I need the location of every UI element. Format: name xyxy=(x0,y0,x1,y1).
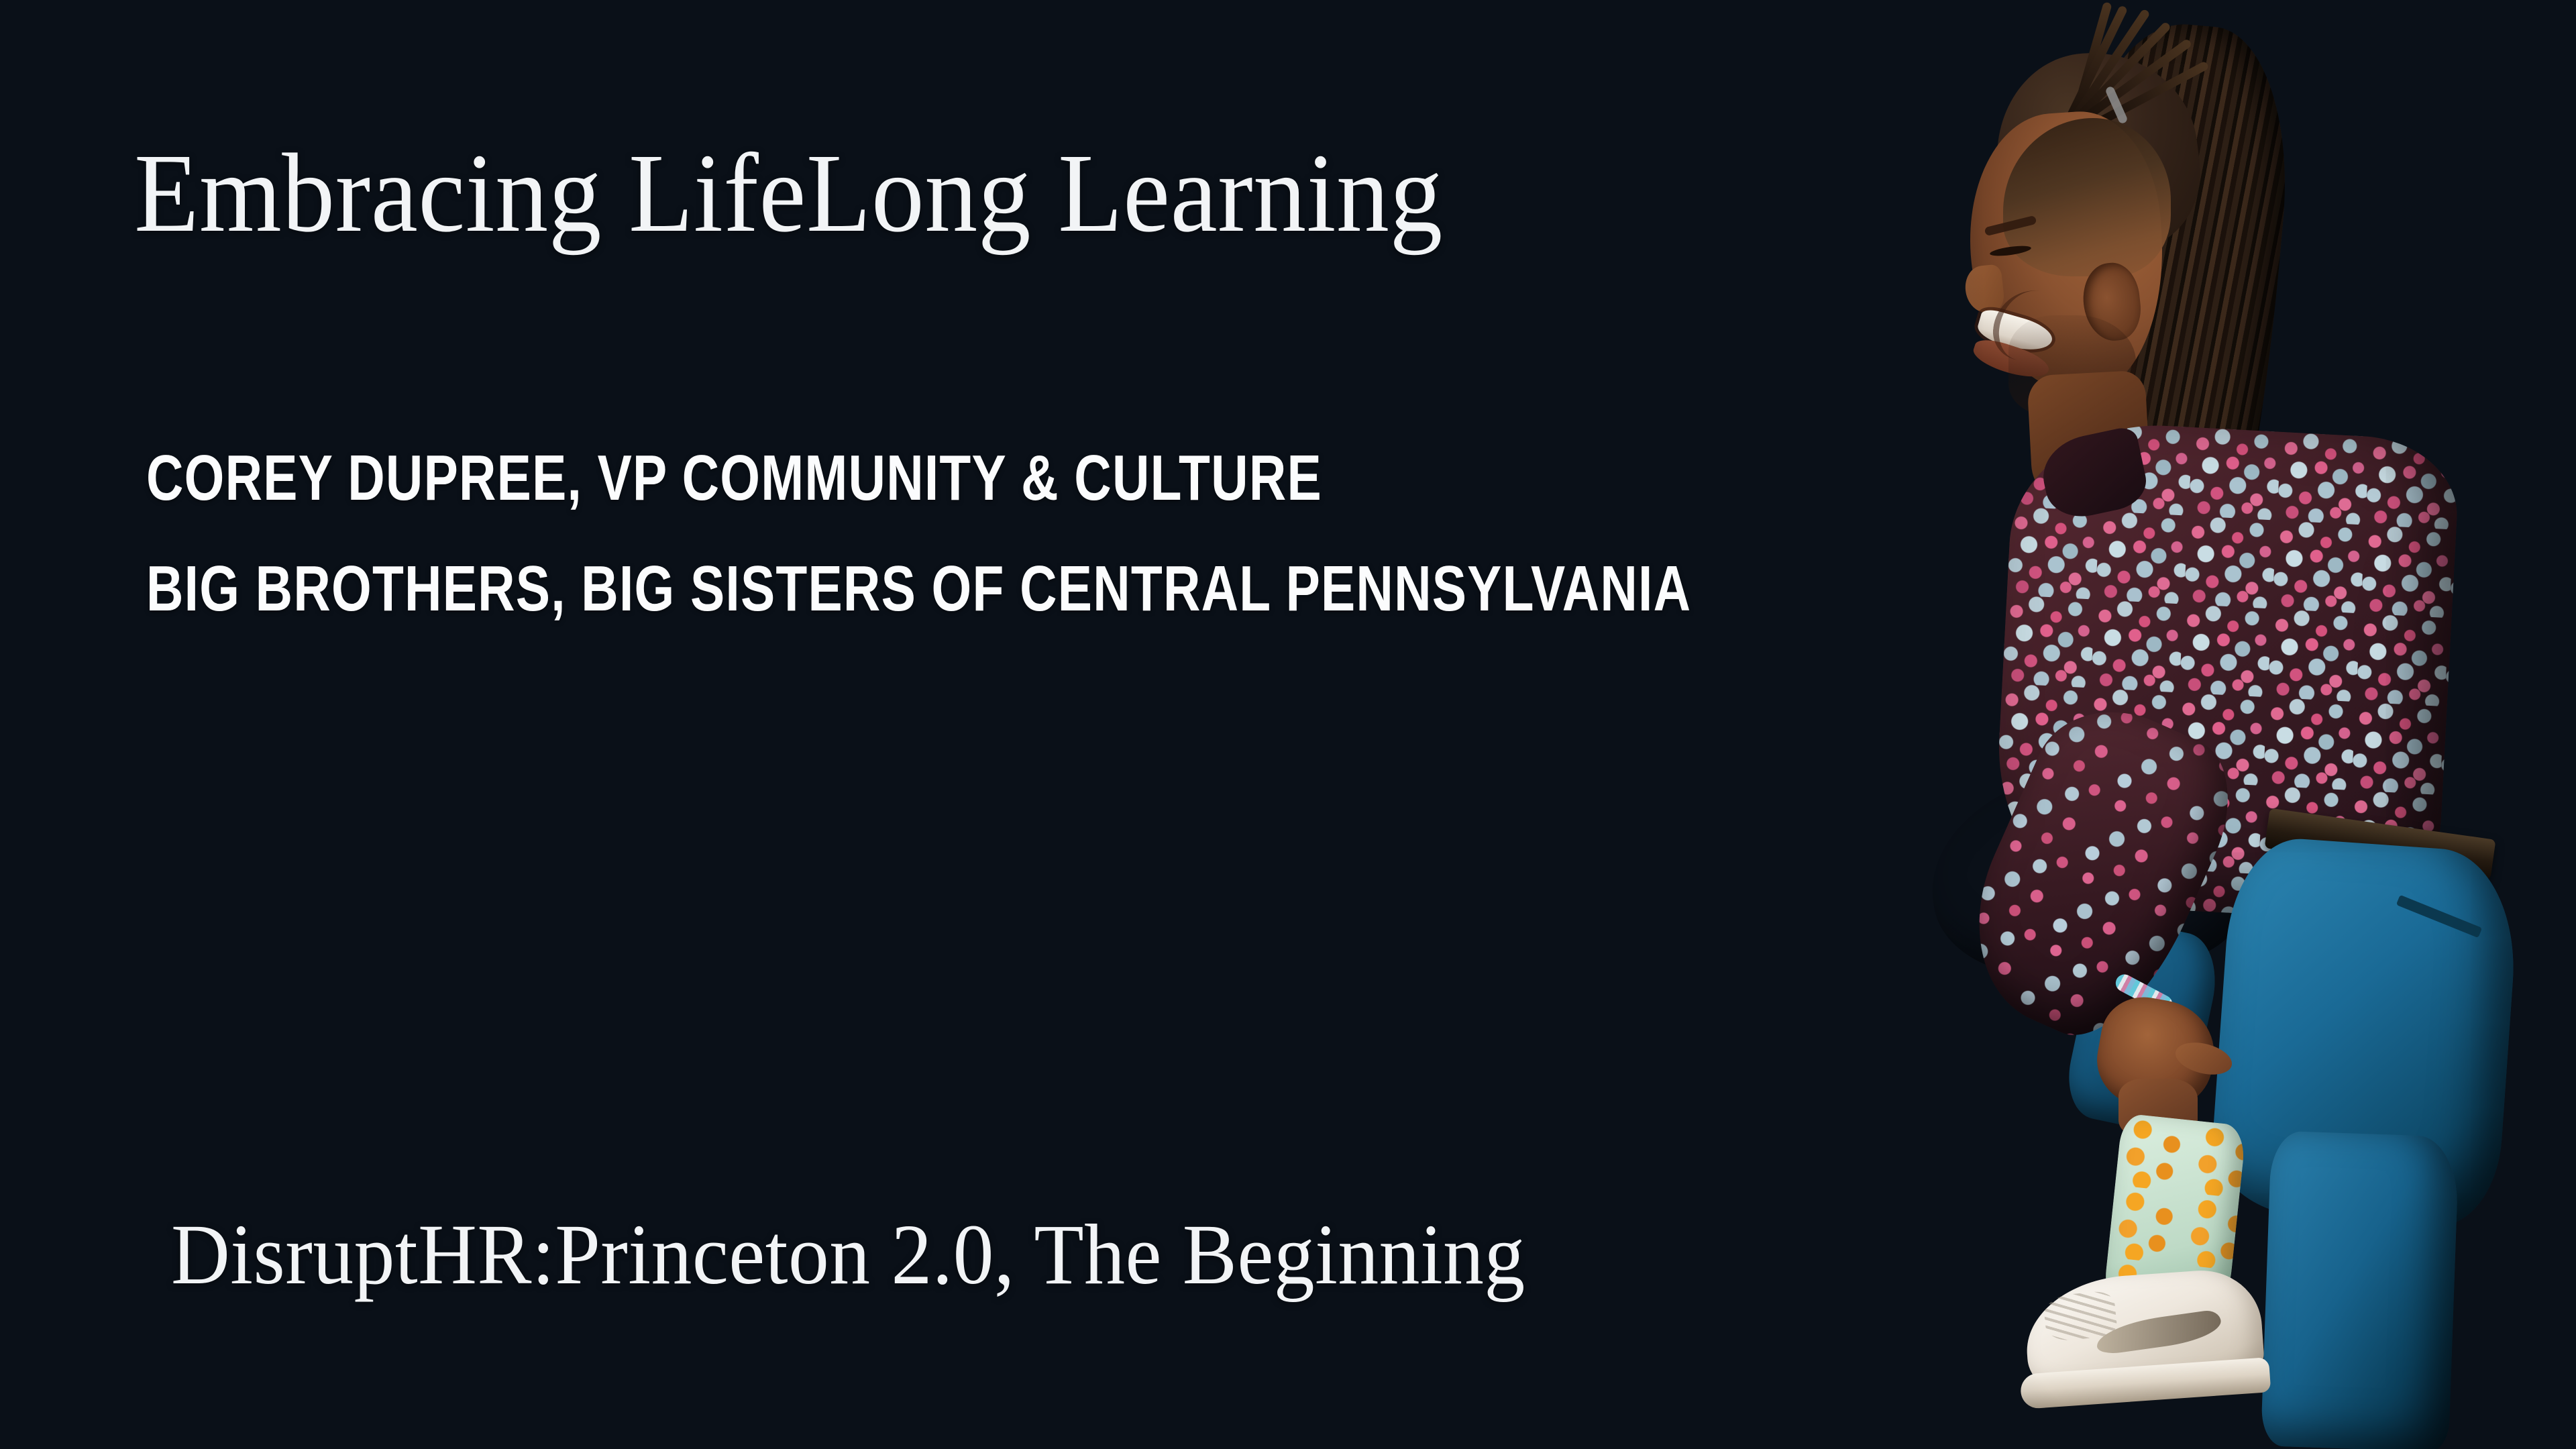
event-name: DisruptHR:Princeton 2.0, The Beginning xyxy=(171,1207,1637,1302)
speaker-photo xyxy=(1872,0,2576,1449)
presenter-organization: BIG BROTHERS, BIG SISTERS OF CENTRAL PEN… xyxy=(146,533,1434,644)
right-trouser-leg xyxy=(2261,1130,2459,1449)
presentation-slide: Embracing LifeLong Learning COREY DUPREE… xyxy=(0,0,2576,1449)
slide-title: Embracing LifeLong Learning xyxy=(134,134,1521,252)
presenter-name-and-role: COREY DUPREE, VP COMMUNITY & CULTURE xyxy=(146,423,1434,533)
nose xyxy=(1963,264,2005,314)
presenter-block: COREY DUPREE, VP COMMUNITY & CULTURE BIG… xyxy=(146,423,1756,644)
